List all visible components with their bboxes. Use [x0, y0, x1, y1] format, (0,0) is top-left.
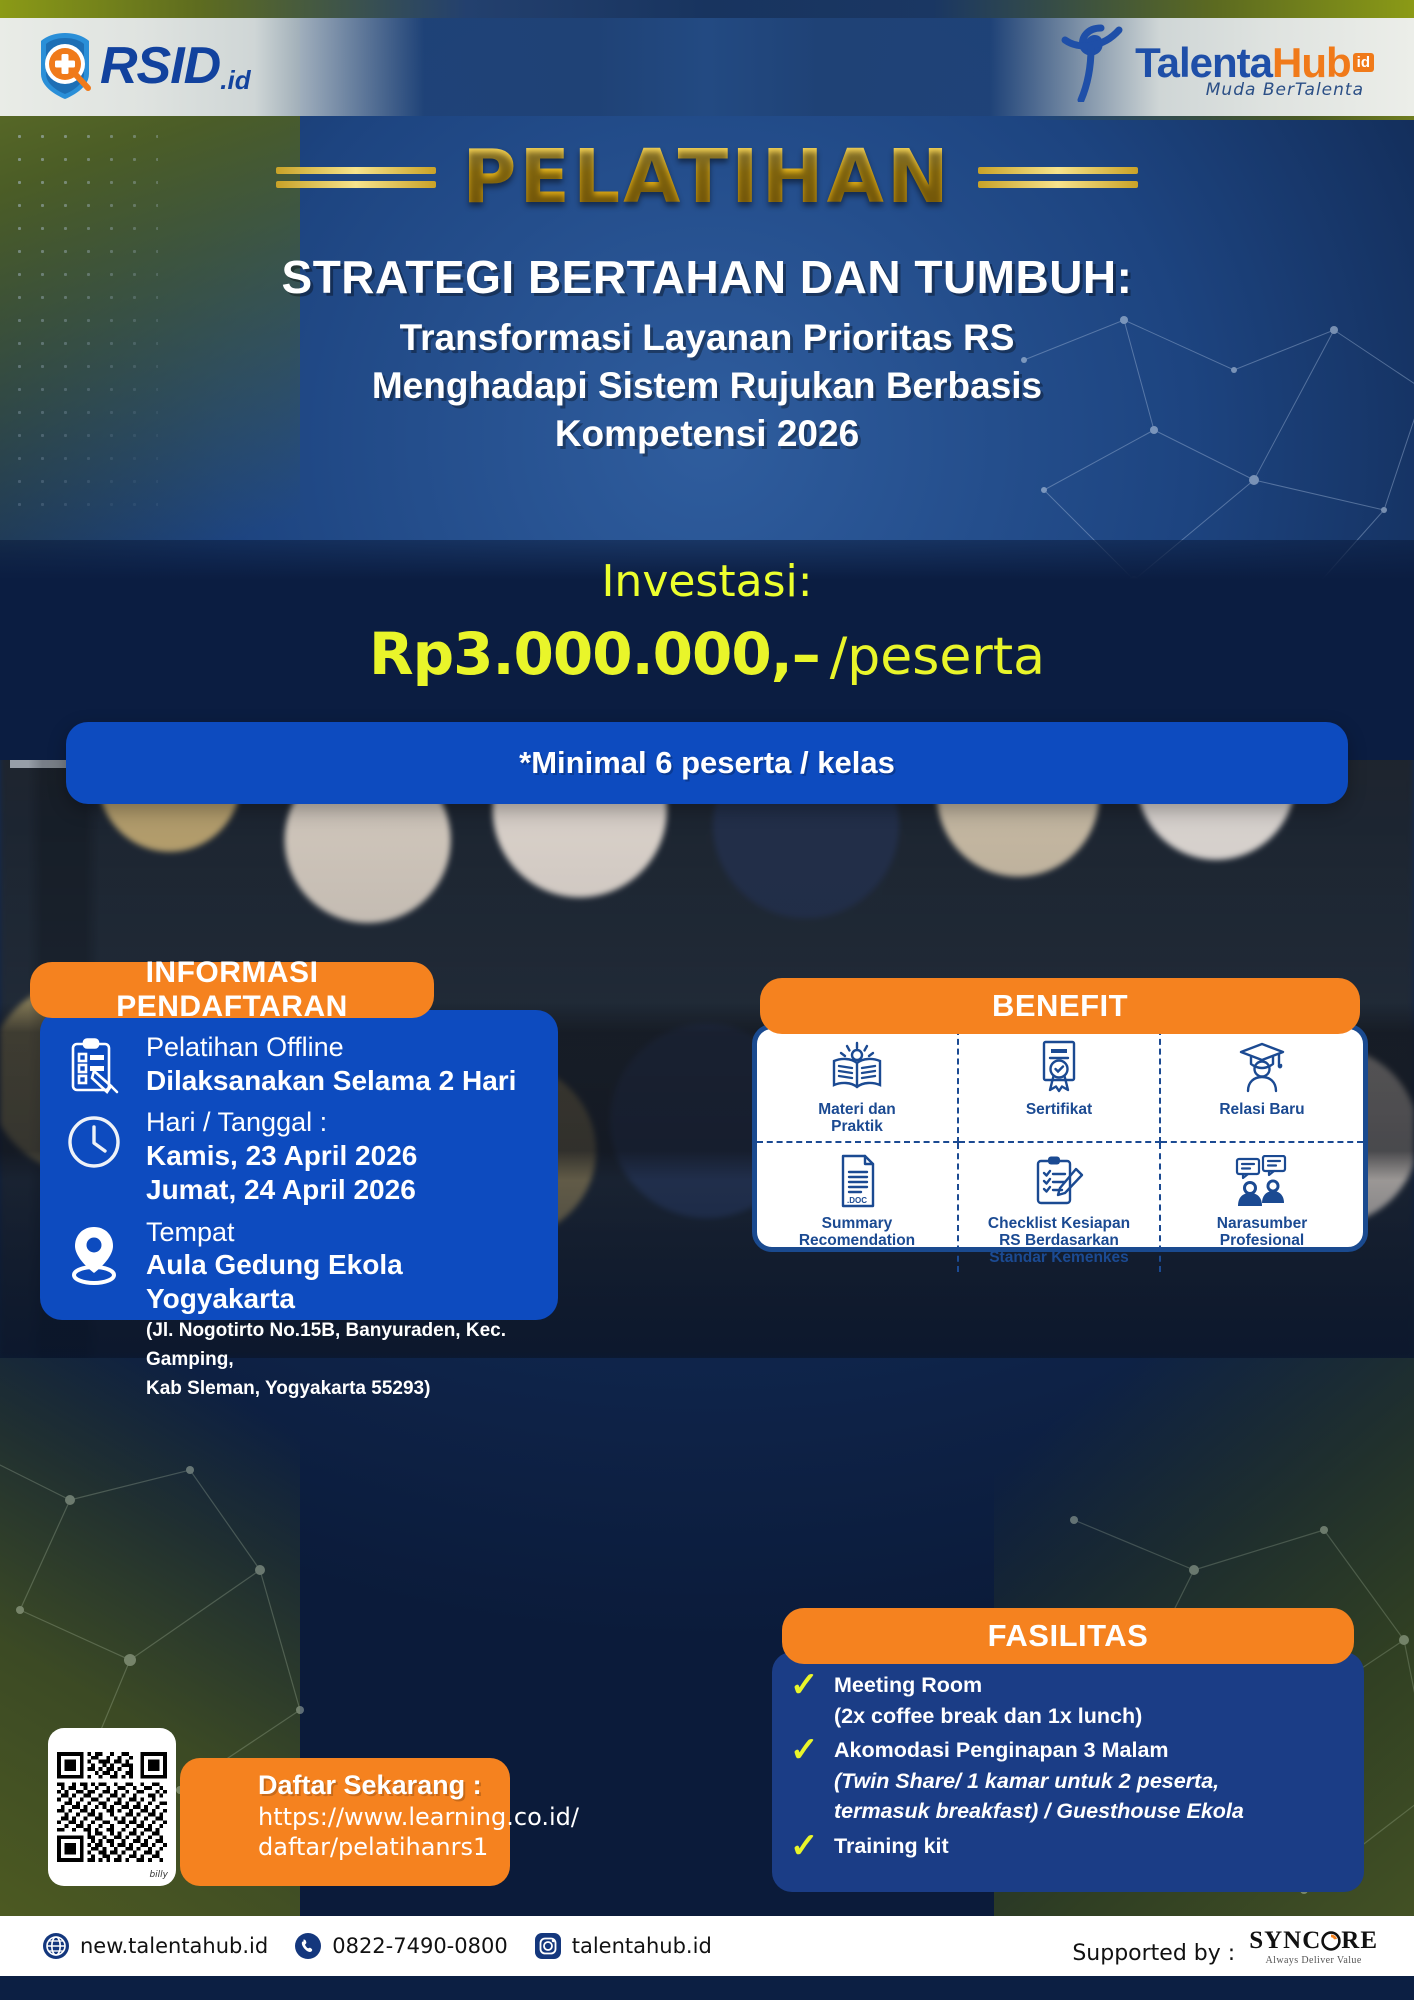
benefit-pill-title: BENEFIT: [760, 978, 1360, 1034]
rsid-logo-tld: .id: [220, 65, 250, 102]
qr-code[interactable]: billy: [48, 1728, 176, 1886]
talenta-logo-tagline: Muda BerTalenta: [1206, 80, 1364, 100]
syncore-tagline: Always Deliver Value: [1266, 1955, 1362, 1966]
benefit-item-materi: Materi dan Praktik: [757, 1029, 959, 1143]
hero-subline-3: Kompetensi 2026: [0, 410, 1414, 458]
benefit-label-materi-2: Praktik: [818, 1118, 896, 1135]
footer-phone-text: 0822-7490-0800: [332, 1934, 508, 1958]
registration-row-format: Pelatihan Offline Dilaksanakan Selama 2 …: [62, 1032, 538, 1097]
supported-by-label: Supported by :: [1072, 1941, 1235, 1966]
talenta-logo-text-2: Hub: [1272, 39, 1351, 86]
hero-kicker-row: PELATIHAN: [0, 134, 1414, 220]
rsid-logo-text: RSID: [100, 36, 220, 96]
benefit-label-narasumber-2: Profesional: [1217, 1232, 1307, 1249]
benefit-label-summary-1: Summary: [799, 1215, 915, 1232]
talenta-logo-id-badge: id: [1353, 53, 1374, 72]
hero-title-block: PELATIHAN STRATEGI BERTAHAN DAN TUMBUH: …: [0, 116, 1414, 458]
facility-training-kit-line1: Training kit: [834, 1831, 949, 1862]
benefit-label-checklist-1: Checklist Kesiapan: [988, 1215, 1130, 1232]
svg-text:.DOC: .DOC: [847, 1196, 867, 1205]
instagram-icon: [534, 1932, 562, 1960]
registration-format-bold: Dilaksanakan Selama 2 Hari: [146, 1064, 516, 1098]
rsid-shield-icon: [34, 30, 96, 102]
facilities-card: ✓ Meeting Room (2x coffee break dan 1x l…: [772, 1652, 1364, 1892]
benefit-item-summary: .DOC Summary Recomendation: [757, 1143, 959, 1272]
register-cta-url-1: https://www.learning.co.id/: [258, 1803, 510, 1831]
facility-accommodation-line3: termasuk breakfast) / Guesthouse Ekola: [834, 1796, 1244, 1827]
registration-date-2: Jumat, 24 April 2026: [146, 1173, 417, 1207]
hero-subline-2: Menghadapi Sistem Rujukan Berbasis: [0, 362, 1414, 410]
talentahub-logo[interactable]: TalentaHubid Muda BerTalenta: [1057, 24, 1374, 102]
investment-price-row: Rp3.000.000,–/peserta: [0, 620, 1414, 688]
registration-row-date: Hari / Tanggal : Kamis, 23 April 2026 Ju…: [62, 1107, 538, 1206]
hero-subline-1: Transformasi Layanan Prioritas RS: [0, 314, 1414, 362]
register-cta-box[interactable]: Daftar Sekarang : https://www.learning.c…: [180, 1758, 510, 1886]
registration-pill-title: INFORMASI PENDAFTARAN: [30, 962, 434, 1018]
benefit-label-relasi: Relasi Baru: [1219, 1101, 1304, 1118]
speakers-icon: [1233, 1153, 1291, 1209]
benefit-card: Materi dan Praktik Sertifikat: [752, 1024, 1368, 1252]
clipboard-pen-icon: [62, 1032, 126, 1096]
globe-icon: [42, 1932, 70, 1960]
footer-bottom-strip: [0, 1976, 1414, 2000]
investment-unit: /peserta: [830, 627, 1045, 687]
minimum-participants-bar: *Minimal 6 peserta / kelas: [66, 722, 1348, 804]
check-icon: ✓: [790, 1831, 820, 1862]
footer-website[interactable]: new.talentahub.id: [42, 1932, 268, 1960]
registration-venue-addr2: Kab Sleman, Yogyakarta 55293): [146, 1374, 538, 1403]
registration-row-venue: Tempat Aula Gedung Ekola Yogyakarta (Jl.…: [62, 1217, 538, 1404]
hero-kicker: PELATIHAN: [462, 134, 952, 220]
benefit-label-checklist-2: RS Berdasarkan: [988, 1232, 1130, 1249]
facility-item-meeting-room: ✓ Meeting Room (2x coffee break dan 1x l…: [790, 1670, 1342, 1731]
gold-rule-left: [276, 160, 436, 195]
footer-sponsor: Supported by : SYNC RE Always Deliver Va…: [1072, 1927, 1378, 1966]
checklist-pen-icon: [1032, 1153, 1086, 1209]
registration-venue-name: Aula Gedung Ekola Yogyakarta: [146, 1248, 538, 1315]
qr-code-watermark: billy: [149, 1870, 168, 1880]
syncore-name-right: RE: [1341, 1927, 1378, 1955]
check-icon: ✓: [790, 1670, 820, 1701]
hero-headline: STRATEGI BERTAHAN DAN TUMBUH:: [0, 250, 1414, 304]
benefit-label-narasumber-1: Narasumber: [1217, 1215, 1307, 1232]
benefit-label-checklist-3: Standar Kemenkes: [988, 1249, 1130, 1266]
benefit-label-materi-1: Materi dan: [818, 1101, 896, 1118]
syncore-name-left: SYNC: [1249, 1927, 1321, 1955]
registration-format-light: Pelatihan Offline: [146, 1032, 516, 1064]
benefit-item-narasumber: Narasumber Profesional: [1161, 1143, 1363, 1272]
footer-instagram[interactable]: talentahub.id: [534, 1932, 712, 1960]
certificate-icon: [1035, 1039, 1083, 1095]
register-cta-title: Daftar Sekarang :: [258, 1770, 510, 1801]
open-book-icon: [829, 1039, 885, 1095]
facility-item-accommodation: ✓ Akomodasi Penginapan 3 Malam (Twin Sha…: [790, 1735, 1342, 1827]
registration-date-label: Hari / Tanggal :: [146, 1107, 417, 1139]
registration-venue-label: Tempat: [146, 1217, 538, 1249]
syncore-o-icon: [1321, 1931, 1341, 1951]
facility-item-training-kit: ✓ Training kit: [790, 1831, 1342, 1862]
document-doc-icon: .DOC: [835, 1153, 879, 1209]
talenta-person-icon: [1057, 24, 1129, 102]
benefit-label-summary-2: Recomendation: [799, 1232, 915, 1249]
footer-instagram-text: talentahub.id: [572, 1934, 712, 1958]
facility-meeting-room-line1: Meeting Room: [834, 1670, 1142, 1701]
footer-bar: new.talentahub.id 0822-7490-0800 talenta…: [0, 1916, 1414, 1976]
gold-rule-right: [978, 160, 1138, 195]
register-cta-url-2: daftar/pelatihanrs1: [258, 1833, 510, 1861]
map-pin-icon: [62, 1217, 126, 1287]
benefit-item-relasi: Relasi Baru: [1161, 1029, 1363, 1143]
talenta-logo-text-1: Talenta: [1135, 39, 1272, 86]
facility-accommodation-line2: (Twin Share/ 1 kamar untuk 2 peserta,: [834, 1766, 1244, 1797]
benefit-item-checklist: Checklist Kesiapan RS Berdasarkan Standa…: [959, 1143, 1161, 1272]
investment-label: Investasi:: [0, 556, 1414, 607]
rsid-logo[interactable]: RSID .id: [34, 30, 251, 102]
footer-phone[interactable]: 0822-7490-0800: [294, 1932, 508, 1960]
facility-accommodation-line1: Akomodasi Penginapan 3 Malam: [834, 1735, 1244, 1766]
registration-venue-addr1: (Jl. Nogotirto No.15B, Banyuraden, Kec. …: [146, 1316, 538, 1375]
facilities-pill-title: FASILITAS: [782, 1608, 1354, 1664]
qr-code-matrix: [57, 1743, 167, 1871]
registration-date-1: Kamis, 23 April 2026: [146, 1139, 417, 1173]
facility-meeting-room-line2: (2x coffee break dan 1x lunch): [834, 1701, 1142, 1732]
top-ribbon: [0, 0, 1414, 18]
graduate-icon: [1235, 1039, 1289, 1095]
clock-icon: [62, 1107, 126, 1171]
syncore-logo: SYNC RE Always Deliver Value: [1249, 1927, 1378, 1966]
check-icon: ✓: [790, 1735, 820, 1766]
phone-icon: [294, 1932, 322, 1960]
poster-root: RSID .id TalentaHubid Muda BerTalenta PE…: [0, 0, 1414, 2000]
investment-price: Rp3.000.000,–: [369, 620, 820, 688]
footer-website-text: new.talentahub.id: [80, 1934, 268, 1958]
registration-card: Pelatihan Offline Dilaksanakan Selama 2 …: [40, 1010, 558, 1320]
benefit-label-sertifikat: Sertifikat: [1026, 1101, 1092, 1118]
benefit-item-sertifikat: Sertifikat: [959, 1029, 1161, 1143]
